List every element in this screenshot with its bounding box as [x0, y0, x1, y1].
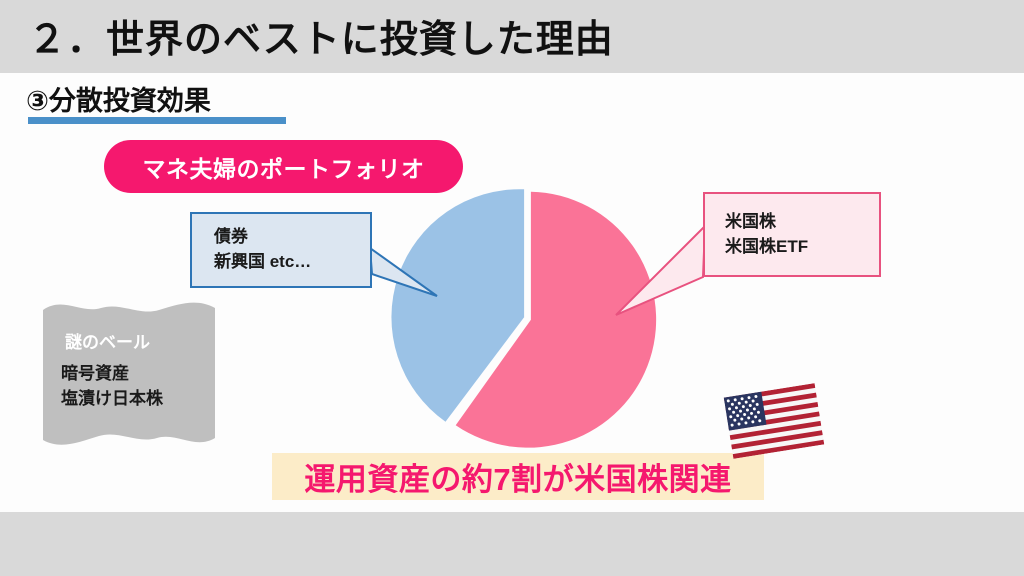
slide-canvas: ２．世界のベストに投資した理由 ③分散投資効果 マネ夫婦のポートフォリオ 債券 … [0, 0, 1024, 576]
callout-bonds: 債券 新興国 etc… [190, 212, 372, 288]
us-flag-icon [724, 383, 825, 459]
footer-band [0, 512, 1024, 576]
veil-body-line2: 塩漬け日本株 [61, 387, 163, 412]
key-message-text: 運用資産の約7割が米国株関連 [304, 454, 731, 499]
callout-us-equities: 米国株 米国株ETF [703, 192, 881, 277]
mystery-veil-banner: 謎のベール 暗号資産 塩漬け日本株 [43, 300, 215, 448]
subtitle-underline [28, 117, 286, 124]
callout-us-equities-line2: 米国株ETF [725, 235, 879, 260]
callout-bonds-line1: 債券 [214, 225, 370, 250]
callout-us-equities-line1: 米国株 [725, 210, 879, 235]
veil-title: 謎のベール [65, 328, 150, 353]
section-subtitle: ③分散投資効果 [26, 79, 211, 118]
callout-bonds-line2: 新興国 etc… [214, 250, 370, 275]
key-message-highlight: 運用資産の約7割が米国株関連 [272, 453, 764, 500]
page-title: ２．世界のベストに投資した理由 [28, 8, 614, 63]
portfolio-pie-chart [380, 175, 680, 460]
veil-body-line1: 暗号資産 [61, 362, 163, 387]
veil-body: 暗号資産 塩漬け日本株 [61, 362, 163, 411]
